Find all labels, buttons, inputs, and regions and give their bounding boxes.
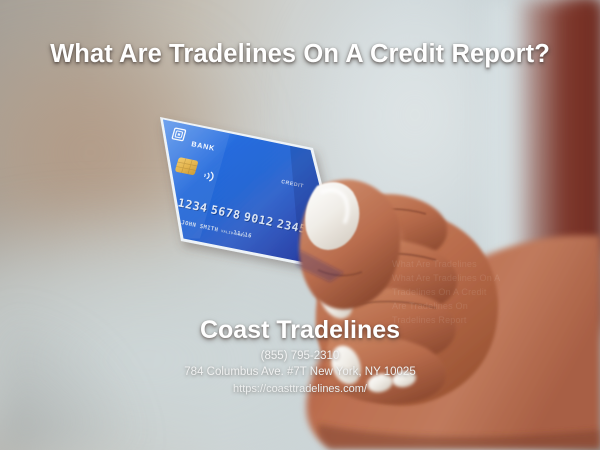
page-title: What Are Tradelines On A Credit Report?	[0, 40, 600, 69]
brand-address: 784 Columbus Ave. #7T New York, NY 10025	[0, 366, 600, 378]
thumb	[299, 180, 400, 310]
branding-block: Coast Tradelines (855) 795-2310 784 Colu…	[0, 316, 600, 395]
brand-name: Coast Tradelines	[0, 316, 600, 344]
hero-image: BANK CREDIT 1234 1234 5678 5678 9012	[0, 0, 600, 450]
brand-url[interactable]: https://coasttradelines.com/	[0, 383, 600, 395]
brand-phone[interactable]: (855) 795-2310	[0, 350, 600, 362]
